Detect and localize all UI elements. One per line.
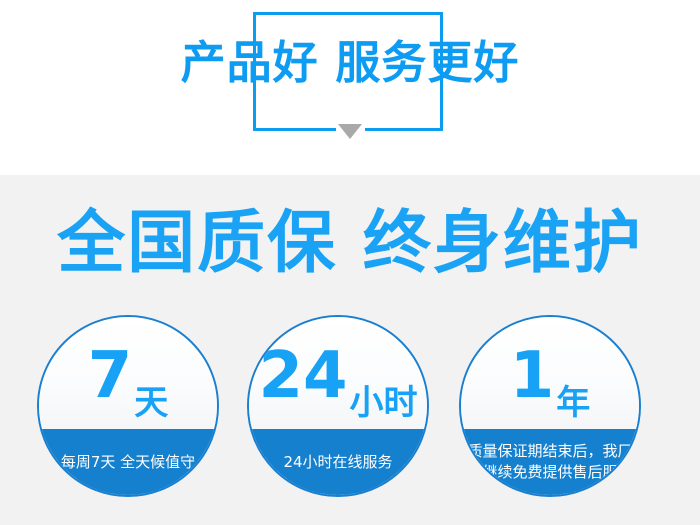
top-section: 产品好 服务更好 [0,0,700,175]
badge-number: 1 [510,344,555,408]
main-headline: 全国质保 终身维护 [0,204,700,284]
badge-bottom-1-year: 质量保证期结束后，我厂将继续免费提供售后服务 [461,429,639,495]
badge-bottom-24-hours: 24小时在线服务 [249,429,427,495]
badge-unit: 天 [134,386,168,420]
service-guarantee-banner: 产品好 服务更好 全国质保 终身维护 7 天 每周7天 全天候值守 [0,0,700,525]
badge-1-year: 1 年 质量保证期结束后，我厂将继续免费提供售后服务 [459,315,641,497]
badge-unit: 年 [556,386,590,420]
triangle-down-icon [338,124,362,139]
badge-7-days: 7 天 每周7天 全天候值守 [37,315,219,497]
badge-top-7-days: 7 天 [39,317,217,429]
badge-caption: 质量保证期结束后，我厂将继续免费提供售后服务 [465,441,635,483]
badge-number: 24 [258,344,347,408]
badge-group: 7 天 每周7天 全天候值守 24 小时 24小时在线服务 [0,315,700,515]
badge-bottom-7-days: 每周7天 全天候值守 [39,429,217,495]
badge-caption: 每周7天 全天候值守 [61,452,195,473]
badge-number: 7 [88,344,133,408]
badge-top-1-year: 1 年 [461,317,639,429]
badge-value-7-days: 7 天 [88,344,169,408]
badge-caption: 24小时在线服务 [283,452,392,473]
badge-value-24-hours: 24 小时 [258,344,417,408]
badge-value-1-year: 1 年 [510,344,591,408]
top-headline: 产品好 服务更好 [0,36,700,90]
bottom-section: 全国质保 终身维护 7 天 每周7天 全天候值守 24 [0,175,700,525]
badge-unit: 小时 [350,386,418,420]
badge-top-24-hours: 24 小时 [249,317,427,429]
badge-24-hours: 24 小时 24小时在线服务 [247,315,429,497]
